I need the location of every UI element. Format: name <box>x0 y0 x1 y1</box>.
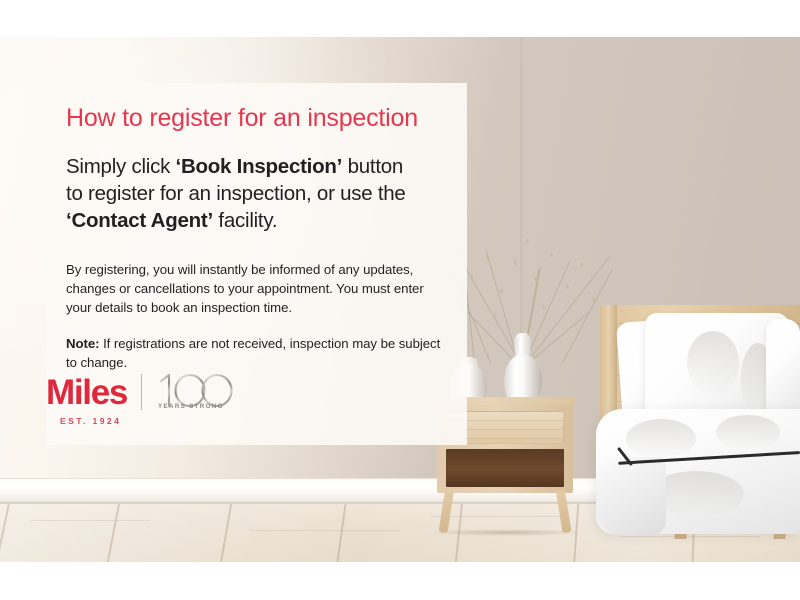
nightstand-leg <box>438 490 453 533</box>
floor-grain <box>30 520 150 521</box>
note-text: Note: If registrations are not received,… <box>66 334 441 373</box>
instructions-text: Simply click ‘Book Inspection’ button to… <box>66 153 441 234</box>
anniversary-subtitle: YEARS STRONG <box>158 403 224 410</box>
duvet-corner-drape <box>596 457 666 535</box>
logo-divider <box>141 374 142 410</box>
instructions-line2: to register for an inspection, or use th… <box>66 182 406 205</box>
floor-grain <box>620 536 760 537</box>
logo-wordmark: Miles <box>46 375 127 410</box>
instructions-line3-suffix: facility. <box>213 209 277 232</box>
contact-agent-label: ‘Contact Agent’ <box>66 209 213 232</box>
floor-grain <box>250 530 400 531</box>
instructions-prefix: Simply click <box>66 155 176 178</box>
registration-details-text: By registering, you will instantly be in… <box>66 260 441 318</box>
brand-logo: Miles <box>46 371 276 437</box>
established-label: EST. 1924 <box>60 416 121 426</box>
book-inspection-label: ‘Book Inspection’ <box>176 155 343 178</box>
page-title: How to register for an inspection <box>66 105 441 133</box>
nightstand-shelf <box>446 449 564 487</box>
note-label: Note: <box>66 336 99 351</box>
anniversary-mark: YEARS STRONG <box>155 370 233 414</box>
screenshot-root: How to register for an inspection Simply… <box>0 0 800 600</box>
note-content: If registrations are not received, inspe… <box>66 336 440 370</box>
instructions-suffix: button <box>342 155 403 178</box>
nightstand-leg <box>556 490 571 533</box>
